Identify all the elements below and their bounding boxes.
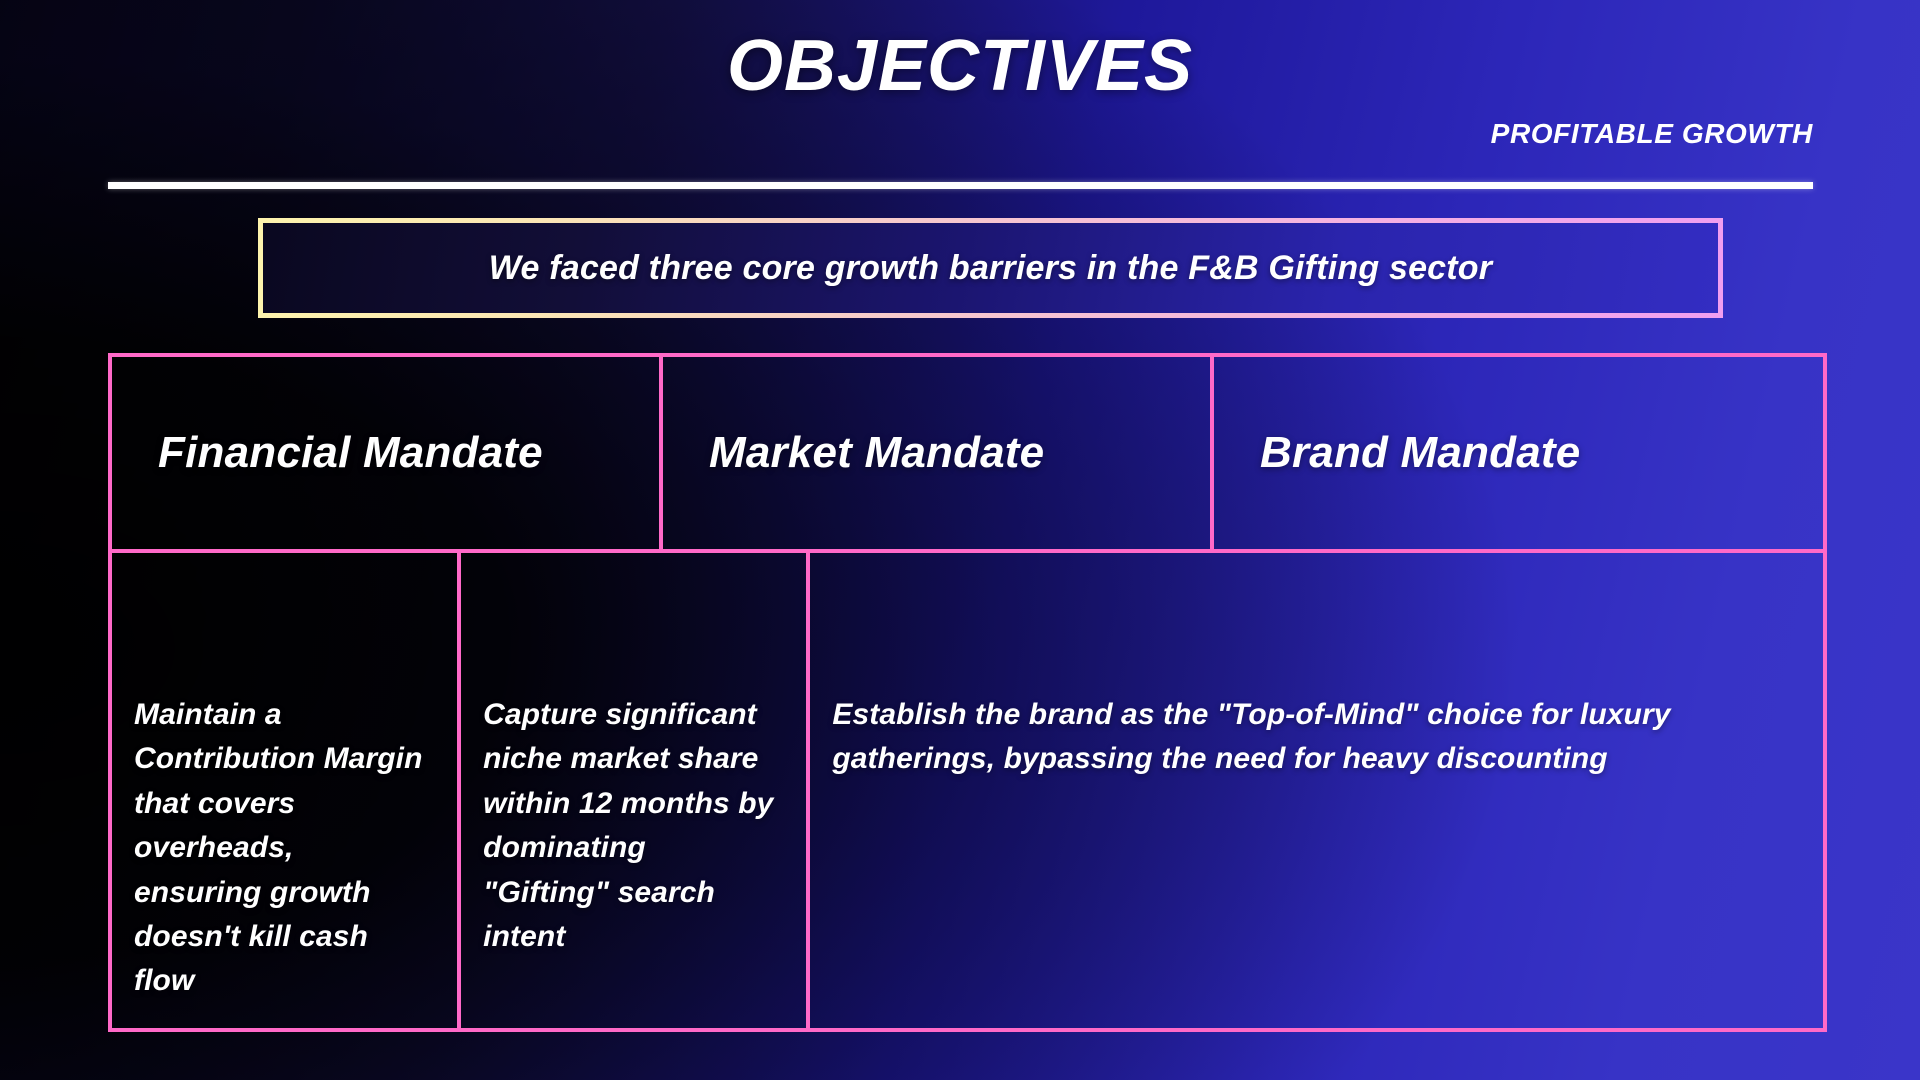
column-body-text: Establish the brand as the "Top-of-Mind"… <box>832 693 1793 782</box>
slide: OBJECTIVES PROFITABLE GROWTH We faced th… <box>0 0 1920 1080</box>
column-body-text: Maintain a Contribution Margin that cove… <box>134 693 427 1004</box>
column-header-label: Financial Mandate <box>158 428 543 478</box>
statement-banner-inner: We faced three core growth barriers in t… <box>263 223 1718 313</box>
column-header-label: Market Mandate <box>709 428 1044 478</box>
statement-banner-text: We faced three core growth barriers in t… <box>489 249 1492 288</box>
table-body-row: Maintain a Contribution Margin that cove… <box>112 553 1823 1028</box>
table-header-cell-market: Market Mandate <box>663 357 1214 549</box>
table-body-cell-market: Capture significant niche market share w… <box>461 553 810 1028</box>
table-header-cell-brand: Brand Mandate <box>1214 357 1823 549</box>
column-header-label: Brand Mandate <box>1260 428 1580 478</box>
column-body-text: Capture significant niche market share w… <box>483 693 776 959</box>
table-body-cell-brand: Establish the brand as the "Top-of-Mind"… <box>810 553 1823 1028</box>
statement-banner: We faced three core growth barriers in t… <box>258 218 1723 318</box>
header-divider-rule <box>108 182 1813 189</box>
page-title: OBJECTIVES <box>0 30 1920 102</box>
mandates-table: Financial Mandate Market Mandate Brand M… <box>108 353 1827 1032</box>
header-tagline: PROFITABLE GROWTH <box>1491 120 1813 148</box>
table-header-row: Financial Mandate Market Mandate Brand M… <box>112 357 1823 553</box>
table-header-cell-financial: Financial Mandate <box>112 357 663 549</box>
table-body-cell-financial: Maintain a Contribution Margin that cove… <box>112 553 461 1028</box>
